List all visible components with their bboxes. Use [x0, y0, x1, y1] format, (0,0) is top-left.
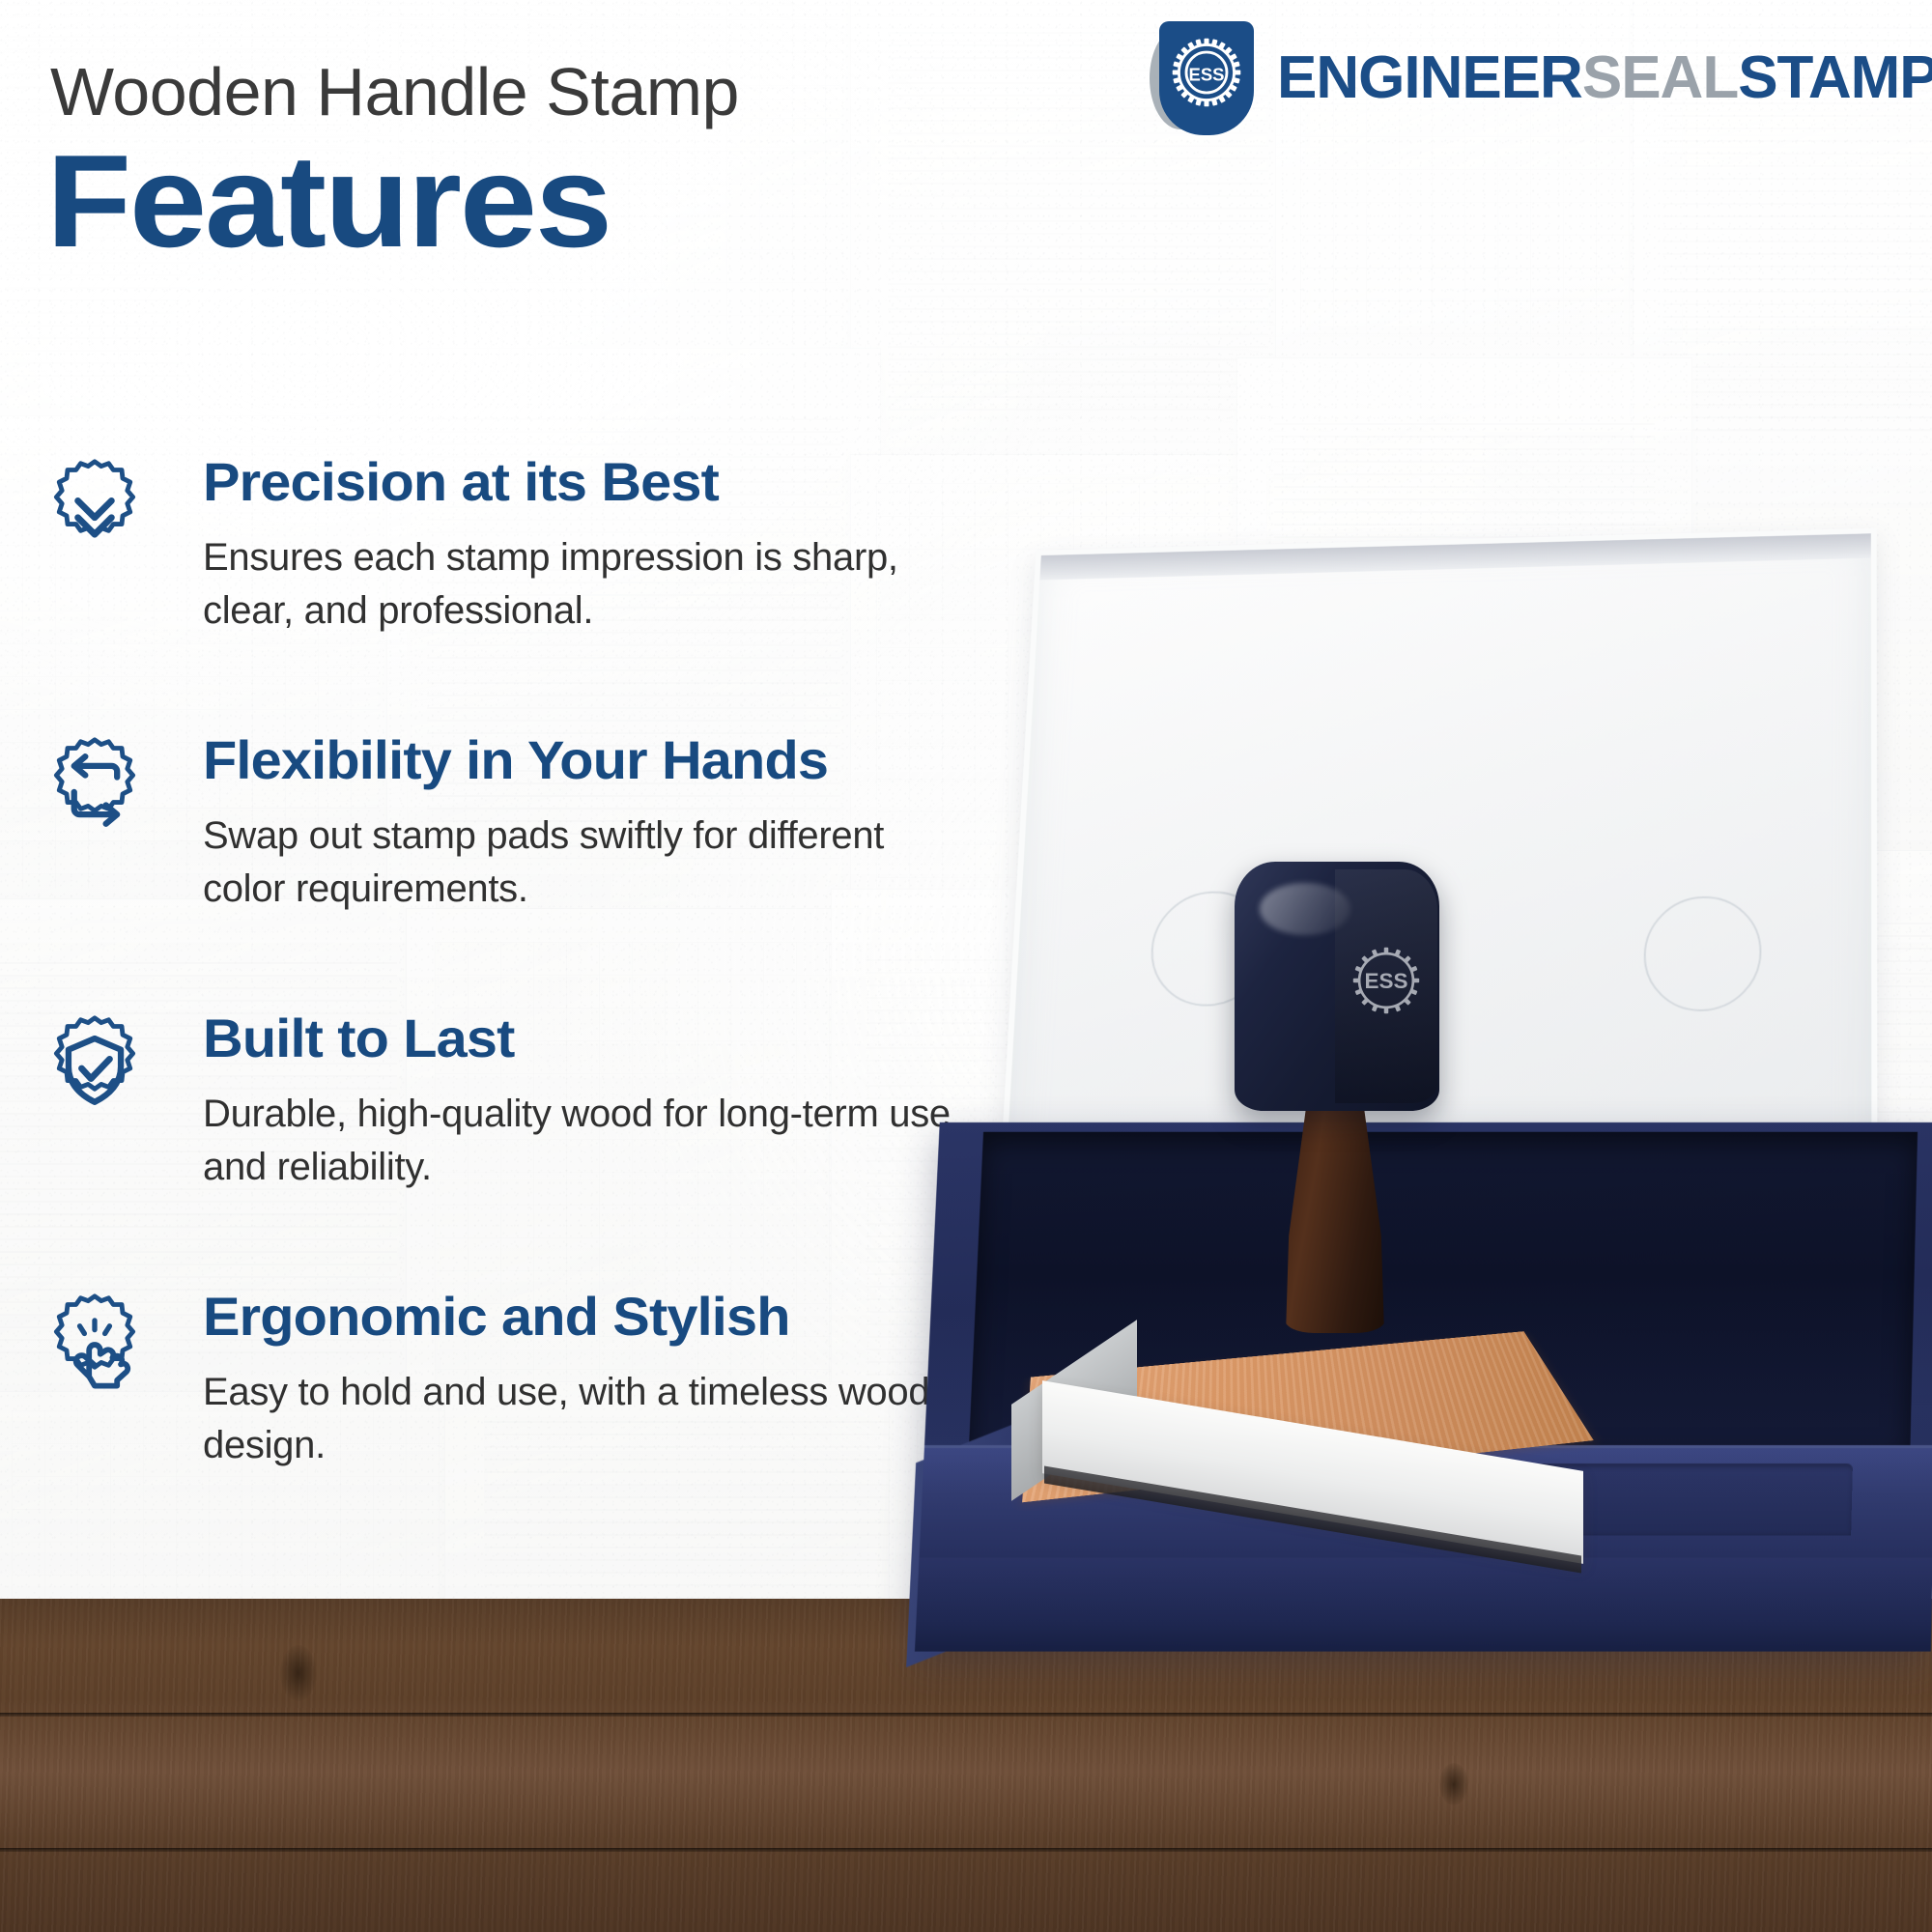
handle-logo-text: ESS: [1364, 969, 1407, 993]
feature-item: Ergonomic and Stylish Easy to hold and u…: [39, 1289, 1063, 1478]
features-list: Precision at its Best Ensures each stamp…: [39, 454, 1063, 1478]
brand-logo[interactable]: ESS ENGINEER SEAL STAMPS .COM: [1150, 21, 1932, 135]
feature-item: Flexibility in Your Hands Swap out stamp…: [39, 732, 1063, 922]
lid-emboss-circle: [1643, 895, 1762, 1012]
logo-mark-text: ESS: [1189, 64, 1225, 84]
box-front-face: [915, 1558, 1932, 1652]
logo-word-seal: SEAL: [1582, 48, 1738, 108]
page-kicker: Wooden Handle Stamp: [50, 53, 739, 130]
lid-inner-edge: [1039, 533, 1870, 580]
logo-word-engineer: ENGINEER: [1277, 48, 1582, 108]
badge-swap-arrows-icon: [39, 734, 151, 846]
logo-mark: ESS: [1150, 21, 1264, 135]
logo-wordmark: ENGINEER SEAL STAMPS .COM: [1277, 48, 1932, 109]
feature-item: Precision at its Best Ensures each stamp…: [39, 454, 1063, 643]
handle-ess-gear-icon: ESS: [1343, 937, 1430, 1024]
product-photo: ESS: [927, 502, 1932, 1662]
badge-shield-check-icon: [39, 1012, 151, 1124]
logo-word-stamps: STAMPS: [1738, 48, 1932, 108]
badge-double-chevron-down-icon: [39, 456, 151, 568]
feature-description: Durable, high-quality wood for long-term…: [203, 1088, 976, 1194]
page-title: Features: [46, 135, 611, 267]
badge-pointing-hand-click-icon: [39, 1291, 151, 1403]
feature-description: Easy to hold and use, with a timeless wo…: [203, 1366, 976, 1472]
feature-description: Swap out stamp pads swiftly for differen…: [203, 810, 976, 916]
gear-emblem-icon: ESS: [1166, 32, 1247, 113]
infographic-canvas: Wooden Handle Stamp Features: [0, 0, 1932, 1932]
feature-item: Built to Last Durable, high-quality wood…: [39, 1010, 1063, 1200]
stamp-handle-knob: ESS: [1235, 862, 1439, 1111]
feature-description: Ensures each stamp impression is sharp, …: [203, 531, 976, 638]
